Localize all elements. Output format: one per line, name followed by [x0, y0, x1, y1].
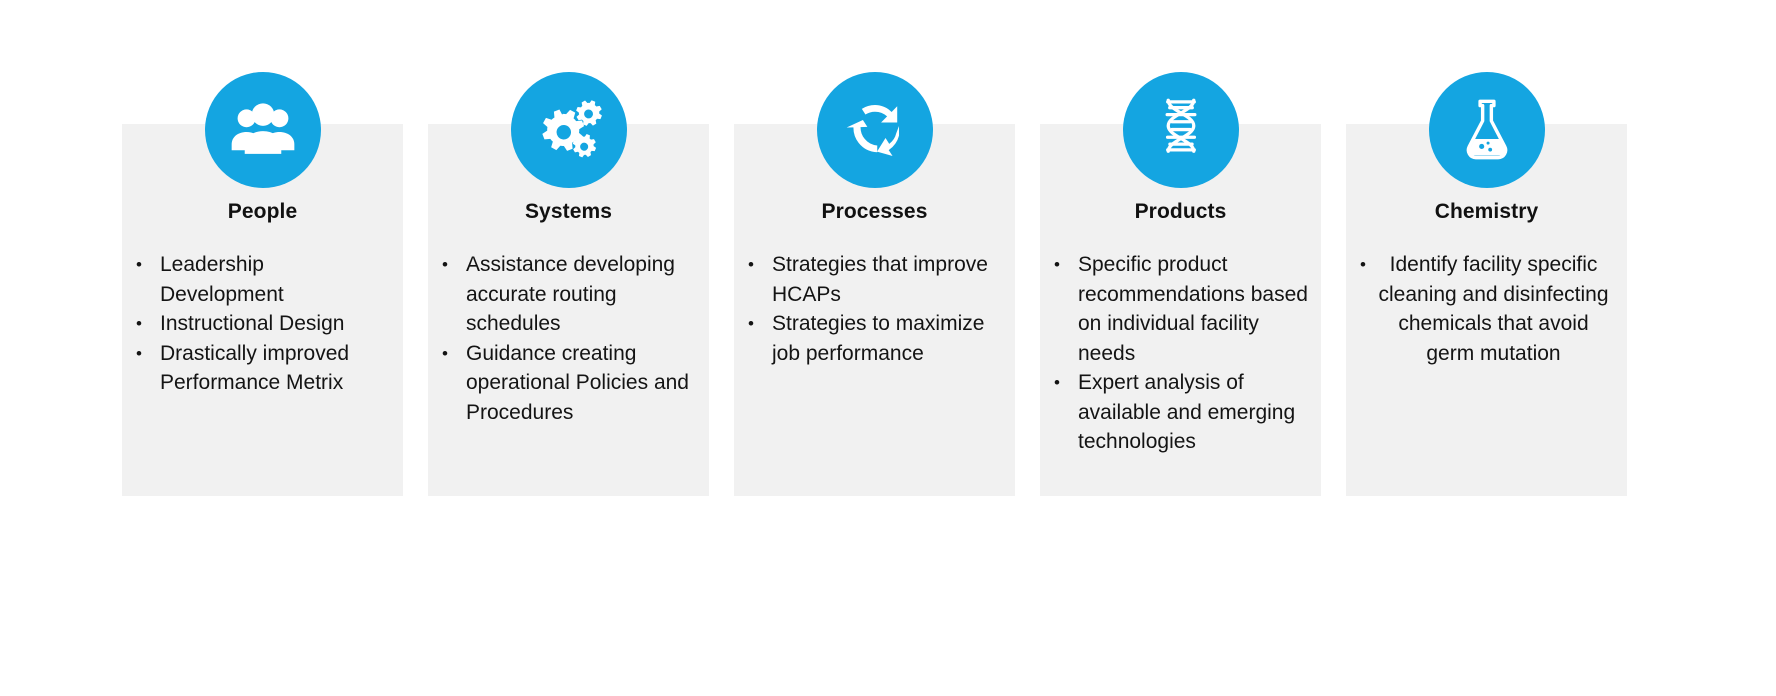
list-item: •Strategies to maximize job performance [734, 309, 1015, 368]
pillar-columns: People•Leadership Development•Instructio… [122, 72, 1652, 502]
pillar-column-chemistry: Chemistry•Identify facility specific cle… [1346, 72, 1627, 502]
bullet-dot-icon: • [748, 250, 762, 280]
list-item: •Drastically improved Performance Metrix [122, 339, 403, 398]
bullet-text: Strategies that improve HCAPs [772, 253, 988, 306]
bullet-text: Expert analysis of available and emergin… [1078, 371, 1295, 453]
pillar-title-processes: Processes [734, 200, 1015, 224]
list-item: •Leadership Development [122, 250, 403, 309]
pillar-title-chemistry: Chemistry [1346, 200, 1627, 224]
pillar-bullet-list-chemistry: •Identify facility specific cleaning and… [1346, 250, 1627, 368]
bullet-text: Assistance developing accurate routing s… [466, 253, 675, 335]
bullet-text: Instructional Design [160, 312, 344, 335]
pillar-bullet-list-people: •Leadership Development•Instructional De… [122, 250, 403, 398]
flask-icon [1429, 72, 1545, 188]
people-group-icon [205, 72, 321, 188]
bullet-dot-icon: • [136, 309, 150, 339]
dna-helix-icon [1123, 72, 1239, 188]
bullet-text: Specific product recommendations based o… [1078, 253, 1308, 365]
bullet-text: Guidance creating operational Policies a… [466, 342, 689, 424]
pillar-title-products: Products [1040, 200, 1321, 224]
pillar-bullet-list-systems: •Assistance developing accurate routing … [428, 250, 709, 427]
list-item: •Guidance creating operational Policies … [428, 339, 709, 428]
pillar-title-systems: Systems [428, 200, 709, 224]
list-item: •Instructional Design [122, 309, 403, 339]
bullet-dot-icon: • [1054, 368, 1068, 398]
list-item: •Specific product recommendations based … [1040, 250, 1321, 368]
list-item: •Identify facility specific cleaning and… [1346, 250, 1627, 368]
bullet-dot-icon: • [442, 250, 456, 280]
pillar-bullet-list-products: •Specific product recommendations based … [1040, 250, 1321, 457]
bullet-text: Identify facility specific cleaning and … [1379, 253, 1609, 365]
gears-icon [511, 72, 627, 188]
recycle-arrows-icon [817, 72, 933, 188]
bullet-text: Drastically improved Performance Metrix [160, 342, 349, 395]
bullet-dot-icon: • [442, 339, 456, 369]
list-item: •Strategies that improve HCAPs [734, 250, 1015, 309]
pillar-bullet-list-processes: •Strategies that improve HCAPs•Strategie… [734, 250, 1015, 368]
list-item: •Assistance developing accurate routing … [428, 250, 709, 339]
pillar-column-systems: Systems•Assistance developing accurate r… [428, 72, 709, 502]
bullet-dot-icon: • [1054, 250, 1068, 280]
pillar-title-people: People [122, 200, 403, 224]
pillar-column-processes: Processes•Strategies that improve HCAPs•… [734, 72, 1015, 502]
bullet-text: Strategies to maximize job performance [772, 312, 984, 365]
bullet-text: Leadership Development [160, 253, 284, 306]
bullet-dot-icon: • [1356, 250, 1370, 280]
bullet-dot-icon: • [136, 250, 150, 280]
bullet-dot-icon: • [136, 339, 150, 369]
diagram-canvas: People•Leadership Development•Instructio… [0, 0, 1776, 696]
bullet-dot-icon: • [748, 309, 762, 339]
pillar-column-products: Products•Specific product recommendation… [1040, 72, 1321, 502]
list-item: •Expert analysis of available and emergi… [1040, 368, 1321, 457]
pillar-column-people: People•Leadership Development•Instructio… [122, 72, 403, 502]
